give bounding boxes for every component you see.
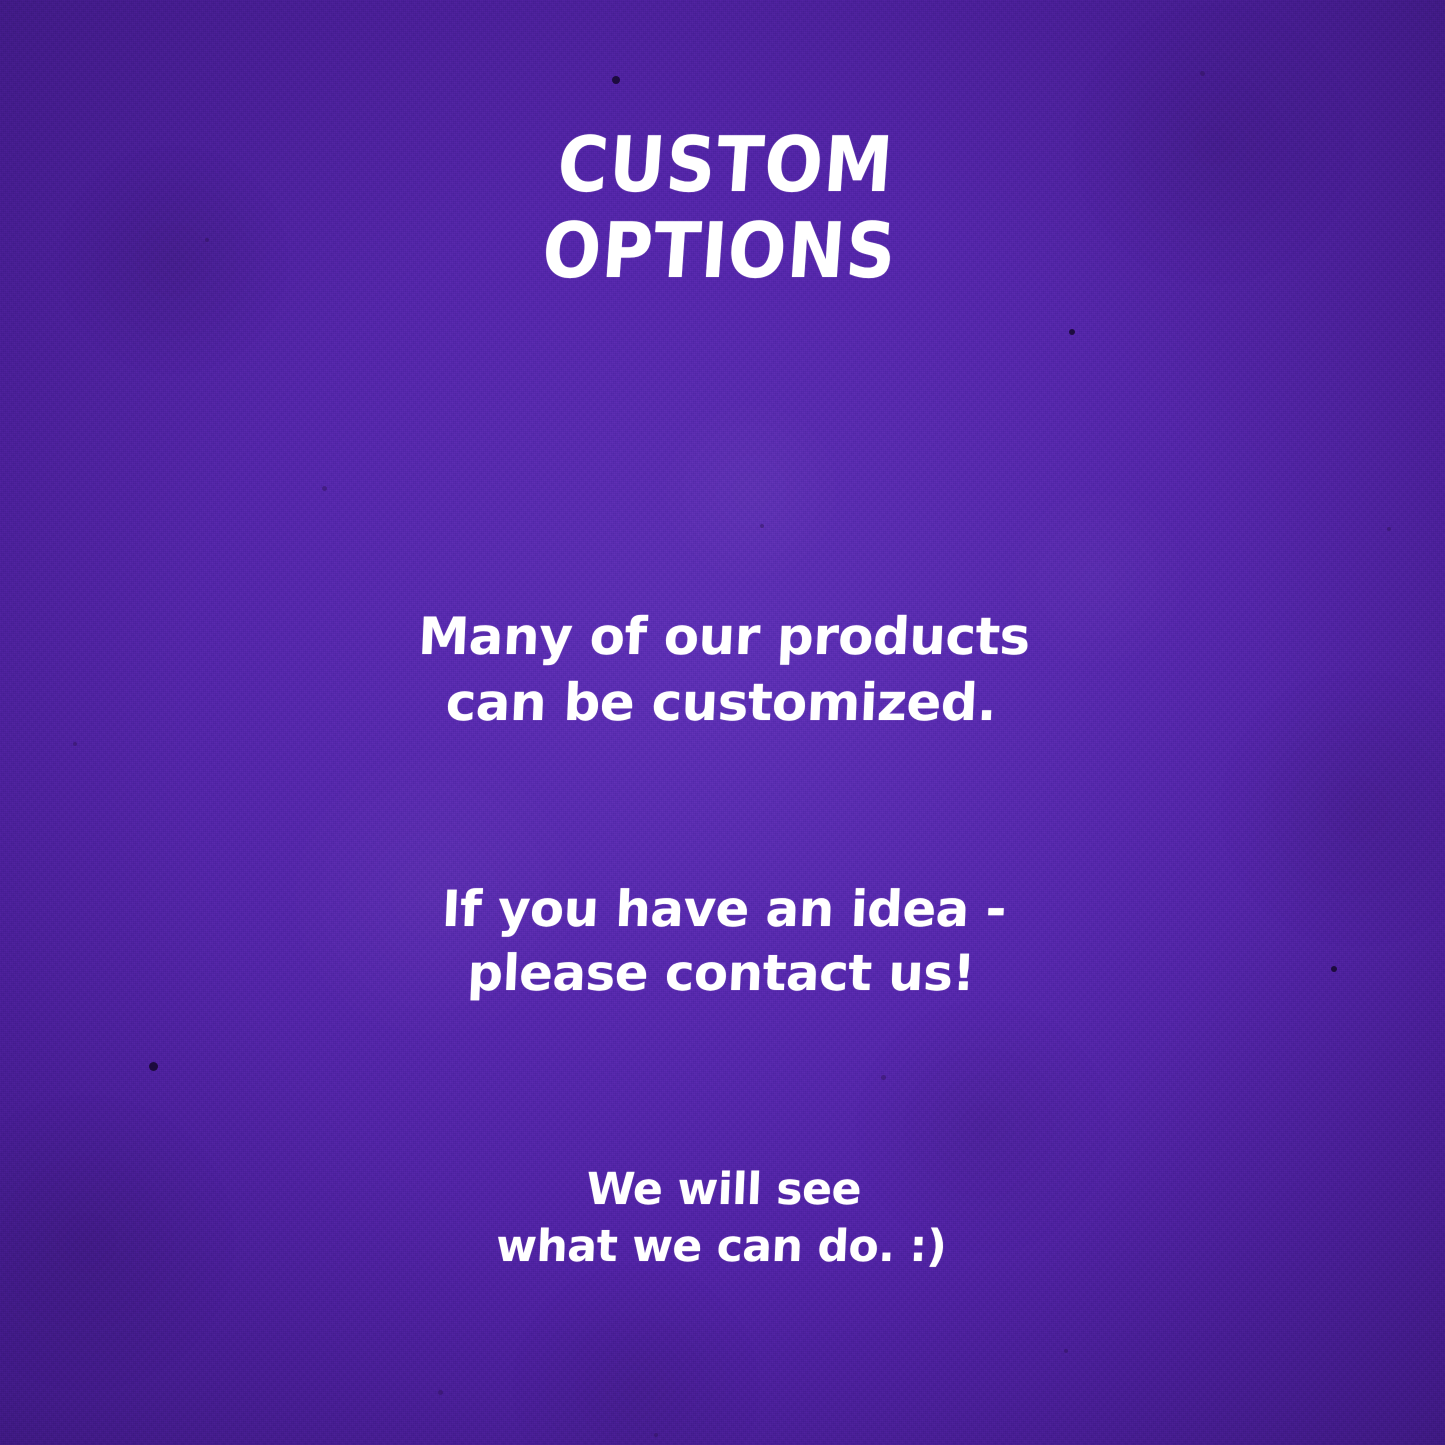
paragraph-products-line-1: Many of our products — [0, 605, 1445, 671]
paragraph-products: Many of our products can be customized. — [0, 605, 1445, 737]
paragraph-will-line-2: what we can do. :) — [0, 1219, 1445, 1276]
paragraph-idea: If you have an idea - please contact us! — [0, 878, 1445, 1006]
page-title: CUSTOM OPTIONS — [0, 123, 1445, 296]
paragraph-products-line-2: can be customized. — [0, 671, 1445, 737]
paragraph-idea-line-1: If you have an idea - — [0, 878, 1445, 942]
headline-line-2: OPTIONS — [0, 210, 1445, 296]
headline-line-1: CUSTOM — [0, 123, 1445, 209]
paragraph-will-line-1: We will see — [0, 1162, 1445, 1219]
poster-content: CUSTOM OPTIONS Many of our products can … — [0, 0, 1445, 1445]
paragraph-idea-line-2: please contact us! — [0, 942, 1445, 1006]
poster-canvas: CUSTOM OPTIONS Many of our products can … — [0, 0, 1445, 1445]
paragraph-will: We will see what we can do. :) — [0, 1162, 1445, 1275]
